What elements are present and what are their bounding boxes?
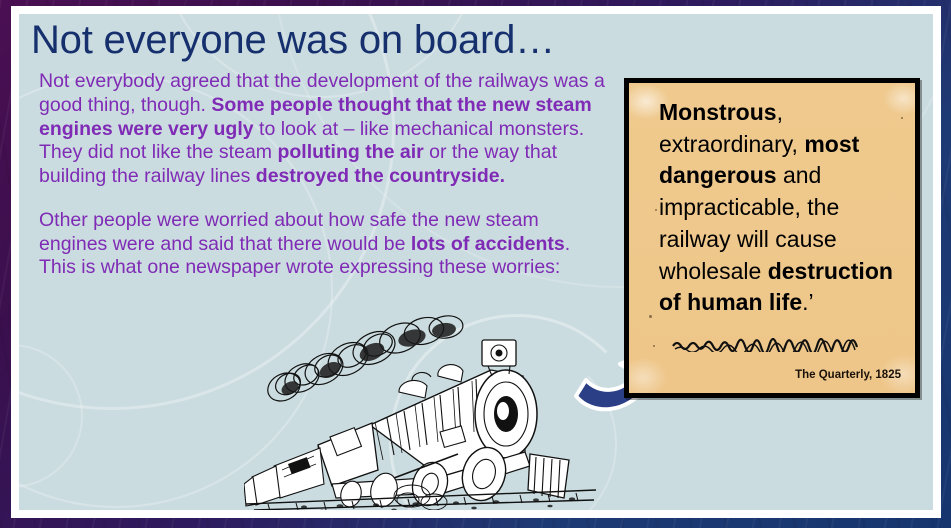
decorative-arc	[19, 344, 83, 488]
slide-title: Not everyone was on board…	[31, 18, 555, 62]
quote-attribution: The Quarterly, 1825	[795, 369, 901, 381]
slide-canvas: Not everyone was on board… Not everybody…	[19, 14, 933, 510]
quote-box: Monstrous, extraordinary, most dangerous…	[624, 78, 920, 398]
paragraph-1: Not everybody agreed that the developmen…	[39, 70, 609, 189]
body-text-column: Not everybody agreed that the developmen…	[39, 70, 609, 300]
paper-speck	[649, 315, 652, 318]
paper-speck	[653, 345, 655, 347]
paper-speck	[655, 209, 657, 211]
steam-locomotive-engraving	[244, 314, 599, 510]
slide: Not everyone was on board… Not everybody…	[0, 0, 951, 528]
paragraph-2: Other people were worried about how safe…	[39, 209, 609, 280]
signature-squiggle	[671, 338, 871, 352]
quote-text: Monstrous, extraordinary, most dangerous…	[659, 97, 903, 319]
